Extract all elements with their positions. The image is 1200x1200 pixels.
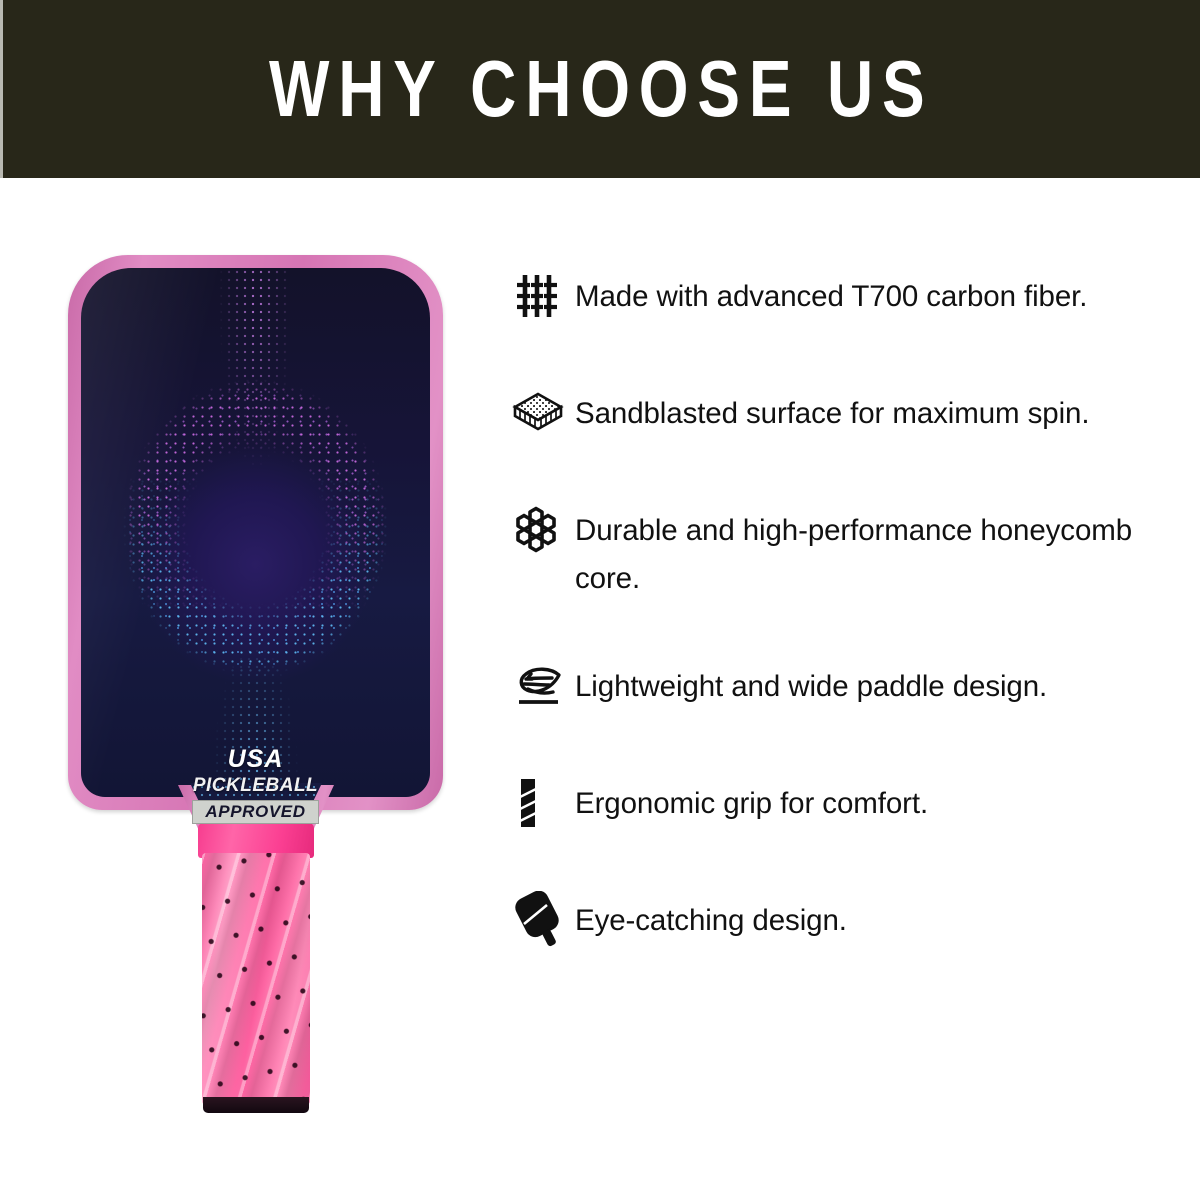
usa-badge-line-usa: USA [68,747,443,772]
feature-label: Lightweight and wide paddle design. [575,658,1200,711]
usa-pickleball-approved-badge: USA PICKLEBALL APPROVED [68,747,443,824]
feature-item-honeycomb: Durable and high-performance honeycomb c… [505,502,1200,603]
feather-lightweight-icon [505,658,575,714]
feature-item-lightweight: Lightweight and wide paddle design. [505,658,1200,714]
sandblasted-surface-icon [505,385,575,441]
page-title: WHY CHOOSE US [269,49,933,129]
carbon-fiber-weave-icon [505,268,575,324]
feature-label: Sandblasted surface for maximum spin. [575,385,1200,438]
paddle-face [81,268,430,797]
usa-badge-line-approved: APPROVED [192,800,318,824]
feature-item-grip: Ergonomic grip for comfort. [505,775,1200,831]
usa-badge-line-pickleball: PICKLEBALL [68,776,443,795]
honeycomb-icon [505,502,575,558]
feature-label: Ergonomic grip for comfort. [575,775,1200,828]
feature-label: Eye-catching design. [575,892,1200,945]
grip-wrap [202,853,310,1105]
blue-particle-spray-bottom [81,268,430,797]
paddle-silhouette-icon [505,892,575,948]
feature-label: Durable and high-performance honeycomb c… [575,502,1200,603]
feature-list: Made with advanced T700 carbon fiber. [505,268,1200,948]
feature-label: Made with advanced T700 carbon fiber. [575,268,1200,321]
grip-perforation-dots [202,853,310,1105]
grip-butt-cap [203,1097,309,1113]
paddle-head-edge-guard: USA PICKLEBALL APPROVED [68,255,443,810]
grip-wrap-icon [505,775,575,831]
feature-item-sandblasted: Sandblasted surface for maximum spin. [505,385,1200,441]
paddle-product-image: USA PICKLEBALL APPROVED [60,225,460,1125]
feature-item-design: Eye-catching design. [505,892,1200,948]
feature-item-carbon-fiber: Made with advanced T700 carbon fiber. [505,268,1200,324]
product-feature-page: WHY CHOOSE US USA PICKLEBALL APPROVED [0,0,1200,1200]
header-banner: WHY CHOOSE US [0,0,1200,178]
